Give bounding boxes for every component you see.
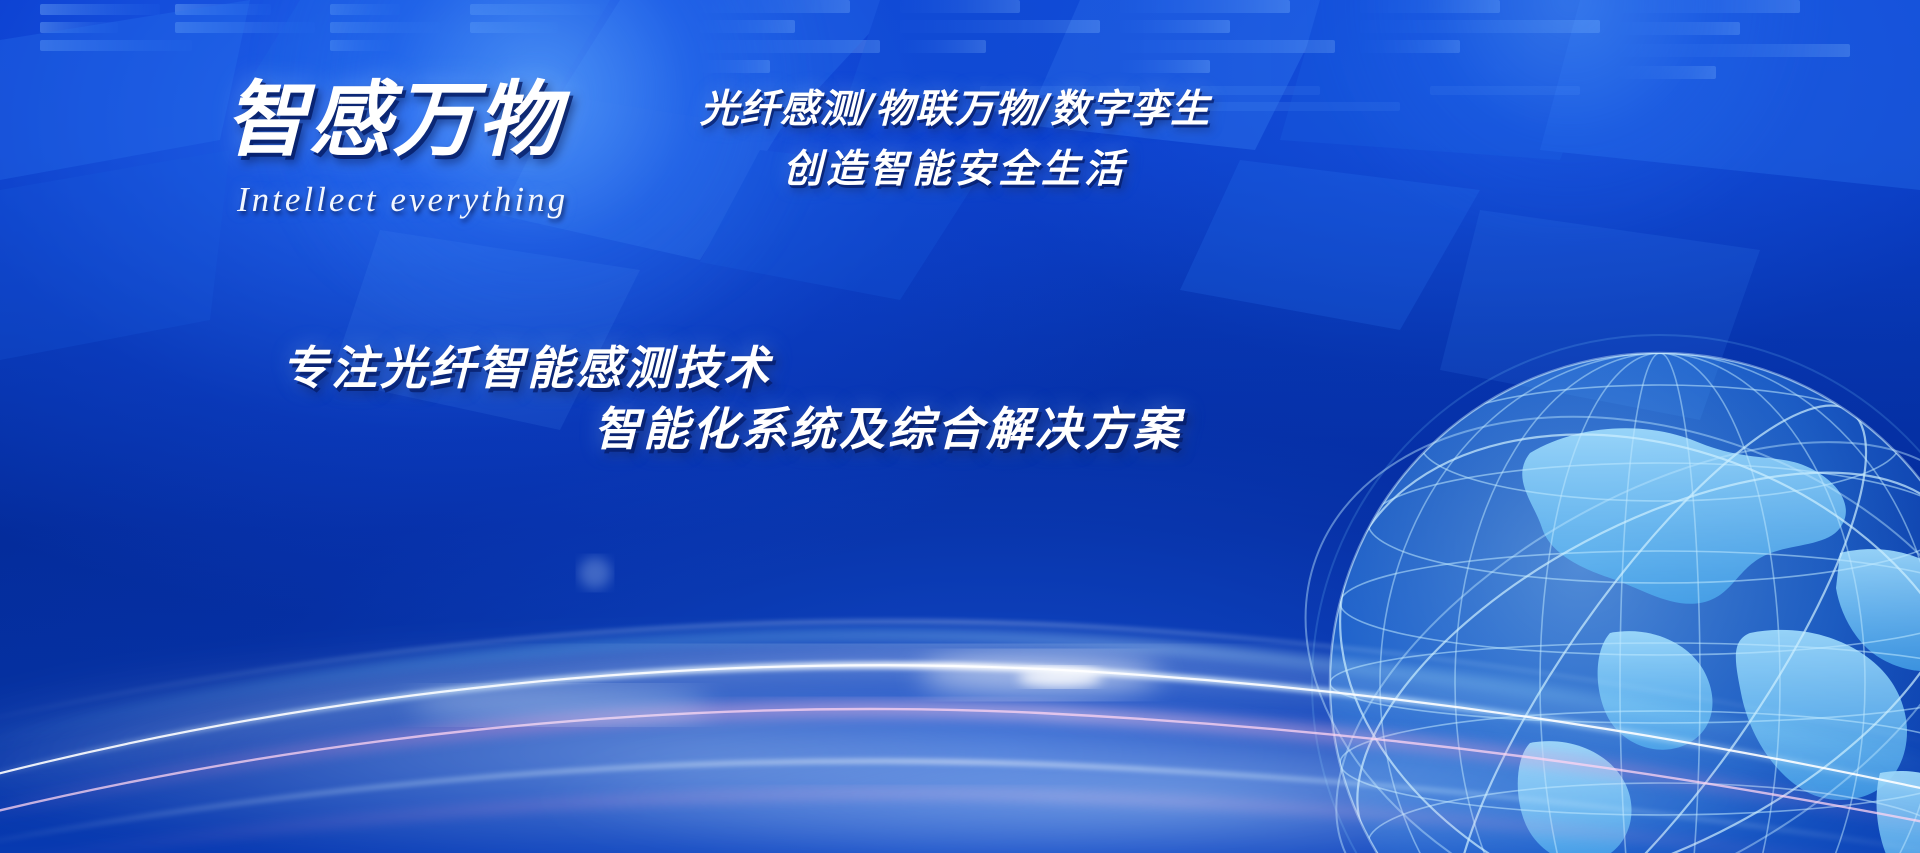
brand-headline-block: 智感万物 Intellect everything	[225, 78, 645, 220]
hero-banner: 智感万物 Intellect everything 光纤感测/物联万物/数字孪生…	[0, 0, 1920, 853]
glow-orb-secondary-graphic	[1290, 0, 1850, 240]
light-streak-svg	[0, 453, 1920, 853]
statement-line-1: 专注光纤智能感测技术	[282, 338, 1222, 399]
slogan-block: 光纤感测/物联万物/数字孪生 创造智能安全生活	[645, 80, 1265, 201]
brand-subtitle: Intellect everything	[237, 180, 645, 220]
statement-line-2: 智能化系统及综合解决方案	[594, 399, 1222, 460]
slogan-line-1: 光纤感测/物联万物/数字孪生	[645, 80, 1265, 140]
brand-title: 智感万物	[225, 78, 645, 164]
globe-svg	[1280, 303, 1920, 853]
slogan-line-2: 创造智能安全生活	[645, 140, 1265, 200]
light-streak-graphic	[0, 453, 1920, 853]
globe-graphic	[1280, 303, 1920, 853]
statement-block: 专注光纤智能感测技术 智能化系统及综合解决方案	[282, 338, 1222, 459]
